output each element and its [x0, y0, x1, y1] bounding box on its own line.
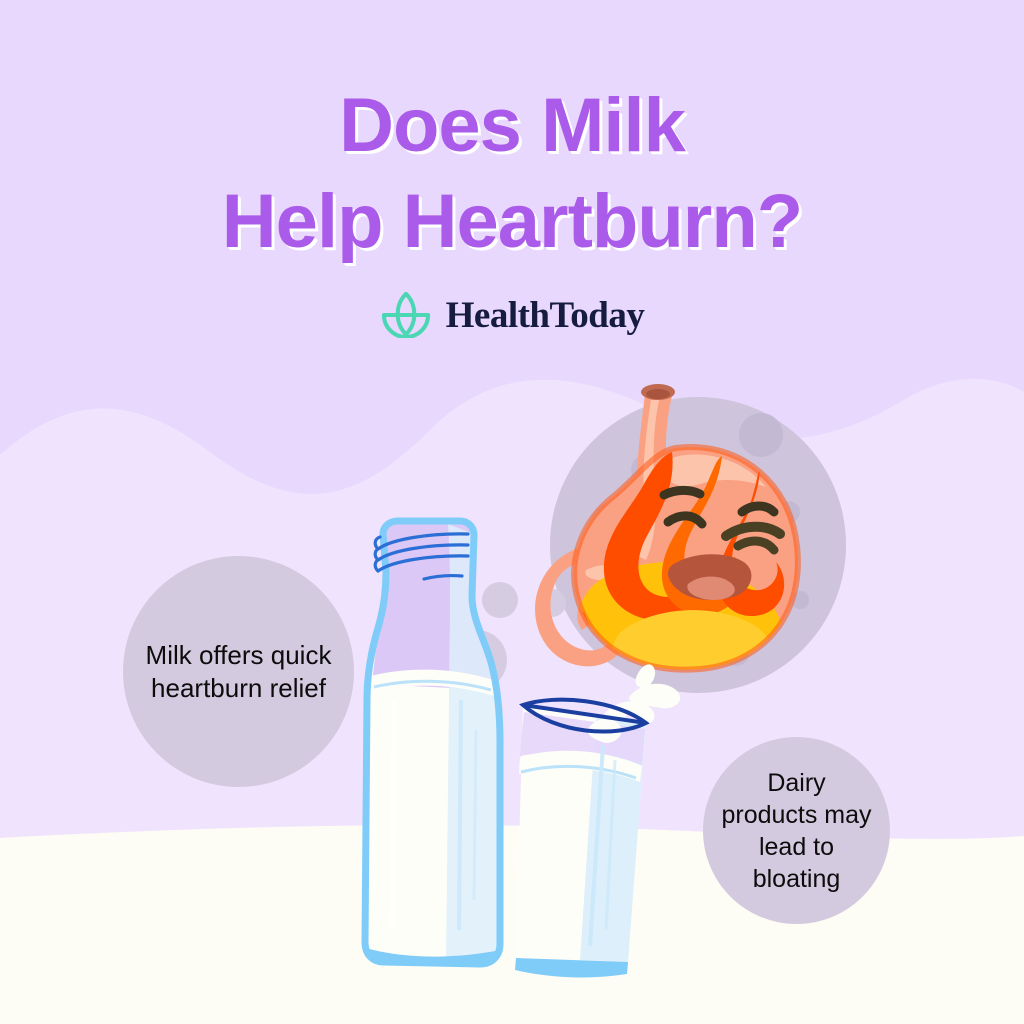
- milk-glass: [515, 664, 680, 977]
- poster-canvas: Does Milk Help Heartburn? HealthToday: [0, 0, 1024, 1024]
- callout-milk-relief: Milk offers quick heartburn relief: [123, 556, 354, 787]
- callout-right-text: Dairy products may lead to bloating: [717, 767, 876, 895]
- callout-left-text: Milk offers quick heartburn relief: [137, 639, 340, 705]
- bubble-dot: [482, 582, 518, 618]
- callout-dairy-bloating: Dairy products may lead to bloating: [703, 737, 890, 924]
- milk-bottle: [365, 521, 500, 966]
